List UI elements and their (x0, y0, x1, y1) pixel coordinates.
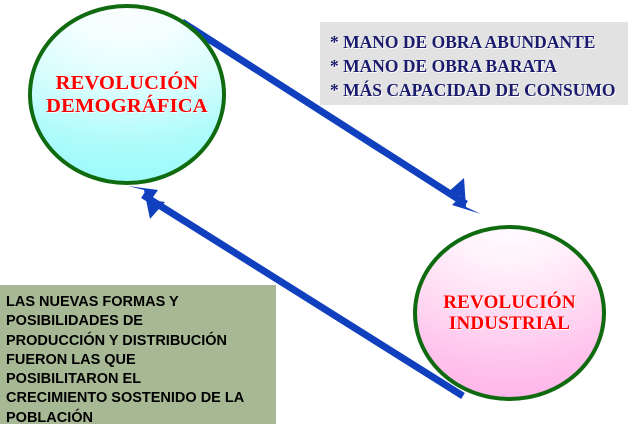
benefits-line-1: * MANO DE OBRA ABUNDANTE (330, 30, 618, 54)
node-revolucion-industrial[interactable]: REVOLUCIÓN INDUSTRIAL (413, 225, 606, 401)
diagram-canvas: REVOLUCIÓN DEMOGRÁFICA REVOLUCIÓN INDUST… (0, 0, 640, 432)
conclusion-line-6: CRECIMIENTO SOSTENIDO DE LA (6, 389, 270, 408)
conclusion-line-1: LAS NUEVAS FORMAS Y (6, 293, 270, 312)
conclusion-line-7: POBLACIÓN (6, 409, 270, 428)
conclusion-line-5: POSIBILITARON EL (6, 370, 270, 389)
benefits-line-2: * MANO DE OBRA BARATA (330, 54, 618, 78)
conclusion-line-2: POSIBILIDADES DE (6, 312, 270, 331)
node-revolucion-demografica[interactable]: REVOLUCIÓN DEMOGRÁFICA (28, 4, 226, 185)
conclusion-line-4: FUERON LAS QUE (6, 351, 270, 370)
node-label-industrial: REVOLUCIÓN INDUSTRIAL (437, 292, 582, 335)
conclusion-line-3: PRODUCCIÓN Y DISTRIBUCIÓN (6, 332, 270, 351)
benefits-line-3: * MÁS CAPACIDAD DE CONSUMO (330, 78, 618, 102)
conclusion-textbox: LAS NUEVAS FORMAS Y POSIBILIDADES DE PRO… (0, 285, 276, 424)
node-label-demografica: REVOLUCIÓN DEMOGRÁFICA (40, 72, 214, 118)
benefits-textbox: * MANO DE OBRA ABUNDANTE * MANO DE OBRA … (320, 22, 628, 105)
